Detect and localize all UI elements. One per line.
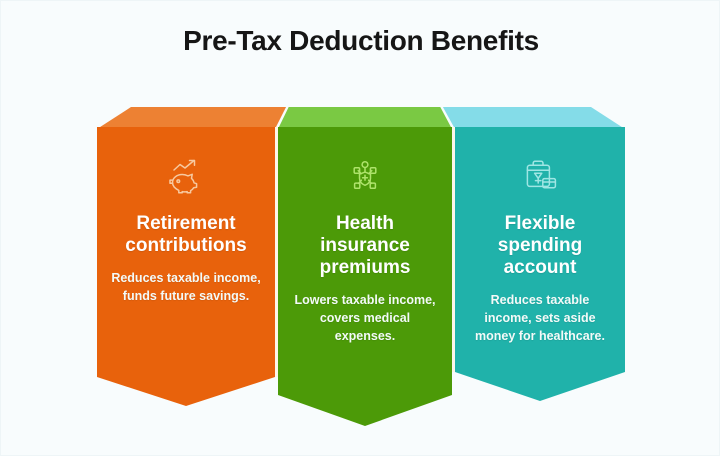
column-lid-face	[97, 107, 286, 129]
column-content: Retirement contributions Reduces taxable…	[97, 153, 275, 306]
column-content: Flexible spending account Reduces taxabl…	[455, 153, 625, 345]
column-divider	[452, 127, 455, 372]
column-description: Reduces taxable income, sets aside money…	[469, 292, 611, 345]
column-lid-face	[278, 107, 452, 129]
benefit-column-flexible-spending-account[interactable]: Flexible spending account Reduces taxabl…	[455, 127, 625, 401]
piggy-bank-growth-icon	[111, 153, 261, 199]
benefit-column-retirement-contributions[interactable]: Retirement contributions Reduces taxable…	[97, 127, 275, 406]
columns-container: Retirement contributions Reduces taxable…	[97, 127, 625, 437]
column-description: Reduces taxable income, funds future sav…	[111, 270, 261, 306]
medical-network-shield-icon	[292, 153, 438, 199]
infographic-canvas: Pre-Tax Deduction Benefits	[0, 0, 720, 456]
medical-bag-card-icon	[469, 153, 611, 199]
column-lid-face	[443, 107, 625, 129]
benefit-column-health-insurance-premiums[interactable]: Health insurance premiums Lowers taxable…	[278, 127, 452, 426]
page-title: Pre-Tax Deduction Benefits	[1, 25, 720, 57]
perspective-lid	[97, 107, 625, 129]
column-heading: Flexible spending account	[469, 213, 611, 279]
column-heading: Health insurance premiums	[292, 213, 438, 279]
column-divider	[275, 127, 278, 377]
column-heading: Retirement contributions	[111, 213, 261, 257]
column-description: Lowers taxable income, covers medical ex…	[292, 292, 438, 345]
column-content: Health insurance premiums Lowers taxable…	[278, 153, 452, 345]
